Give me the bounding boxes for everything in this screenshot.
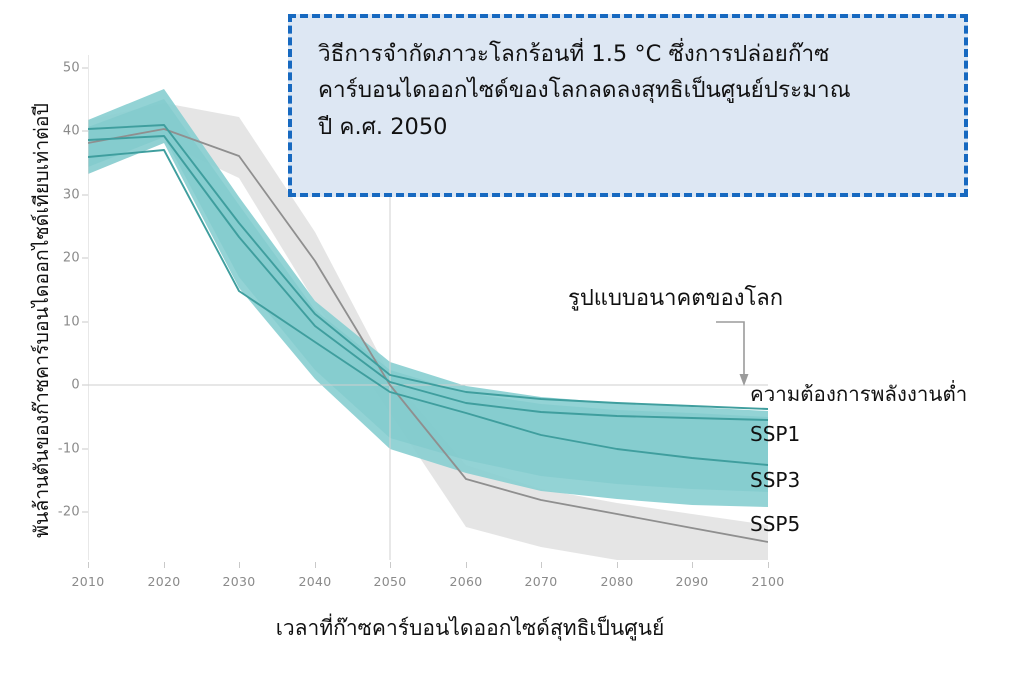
legend-item-ssp1: SSP1: [750, 422, 800, 446]
x-tick-2070: 2070: [524, 574, 557, 589]
x-tick-2090: 2090: [675, 574, 708, 589]
y-tick--10: -10: [58, 442, 80, 457]
x-tick-mark-2080: [617, 562, 618, 568]
callout-box: วิธีการจำกัดภาวะโลกร้อนที่ 1.5 °C ซึ่งกา…: [288, 14, 968, 197]
x-tick-mark-2070: [541, 562, 542, 568]
y-tick--20: -20: [58, 505, 80, 520]
x-tick-2030: 2030: [222, 574, 255, 589]
callout-text: วิธีการจำกัดภาวะโลกร้อนที่ 1.5 °C ซึ่งกา…: [292, 18, 964, 145]
y-tick-mark-50: [82, 68, 88, 69]
x-tick-mark-2040: [315, 562, 316, 568]
y-tick-10: 10: [63, 315, 80, 330]
x-tick-mark-2030: [239, 562, 240, 568]
y-tick-mark-0: [82, 385, 88, 386]
y-tick-mark--20: [82, 512, 88, 513]
y-tick-50: 50: [63, 61, 80, 76]
y-axis-title: พันล้านตันของก๊าซคาร์บอนไดออกไซด์เทียบเท…: [18, 0, 64, 640]
x-tick-2050: 2050: [373, 574, 406, 589]
x-tick-2020: 2020: [147, 574, 180, 589]
callout-line-1: วิธีการจำกัดภาวะโลกร้อนที่ 1.5 °C ซึ่งกา…: [318, 36, 942, 72]
x-tick-mark-2060: [466, 562, 467, 568]
x-tick-2080: 2080: [600, 574, 633, 589]
callout-line-3: ปี ค.ศ. 2050: [318, 109, 942, 145]
x-tick-mark-2050: [390, 562, 391, 568]
y-axis-title-text: พันล้านตันของก๊าซคาร์บอนไดออกไซด์เทียบเท…: [26, 103, 57, 538]
legend-item-ssp3: SSP3: [750, 468, 800, 492]
x-tick-mark-2100: [768, 562, 769, 568]
y-tick-mark-40: [82, 131, 88, 132]
y-tick-mark-30: [82, 195, 88, 196]
y-tick-mark--10: [82, 449, 88, 450]
x-tick-mark-2010: [88, 562, 89, 568]
x-tick-2060: 2060: [449, 574, 482, 589]
y-tick-mark-20: [82, 258, 88, 259]
x-tick-mark-2020: [164, 562, 165, 568]
y-tick-mark-10: [82, 322, 88, 323]
y-tick-20: 20: [63, 251, 80, 266]
y-tick-40: 40: [63, 124, 80, 139]
legend-title: รูปแบบอนาคตของโลก: [568, 280, 783, 315]
y-tick-0: 0: [71, 378, 80, 393]
x-tick-mark-2090: [692, 562, 693, 568]
legend-item-low-energy-demand: ความต้องการพลังงานต่ำ: [750, 378, 967, 411]
x-tick-2100: 2100: [751, 574, 784, 589]
x-tick-2040: 2040: [298, 574, 331, 589]
x-axis-title: เวลาที่ก๊าซคาร์บอนไดออกไซด์สุทธิเป็นศูนย…: [0, 612, 940, 645]
callout-line-2: คาร์บอนไดออกไซด์ของโลกลดลงสุทธิเป็นศูนย์…: [318, 72, 942, 108]
x-axis-title-text: เวลาที่ก๊าซคาร์บอนไดออกไซด์สุทธิเป็นศูนย…: [276, 616, 665, 640]
legend-item-ssp5: SSP5: [750, 512, 800, 536]
slide-canvas: พันล้านตันของก๊าซคาร์บอนไดออกไซด์เทียบเท…: [0, 0, 1024, 677]
y-tick-30: 30: [63, 188, 80, 203]
x-tick-2010: 2010: [71, 574, 104, 589]
